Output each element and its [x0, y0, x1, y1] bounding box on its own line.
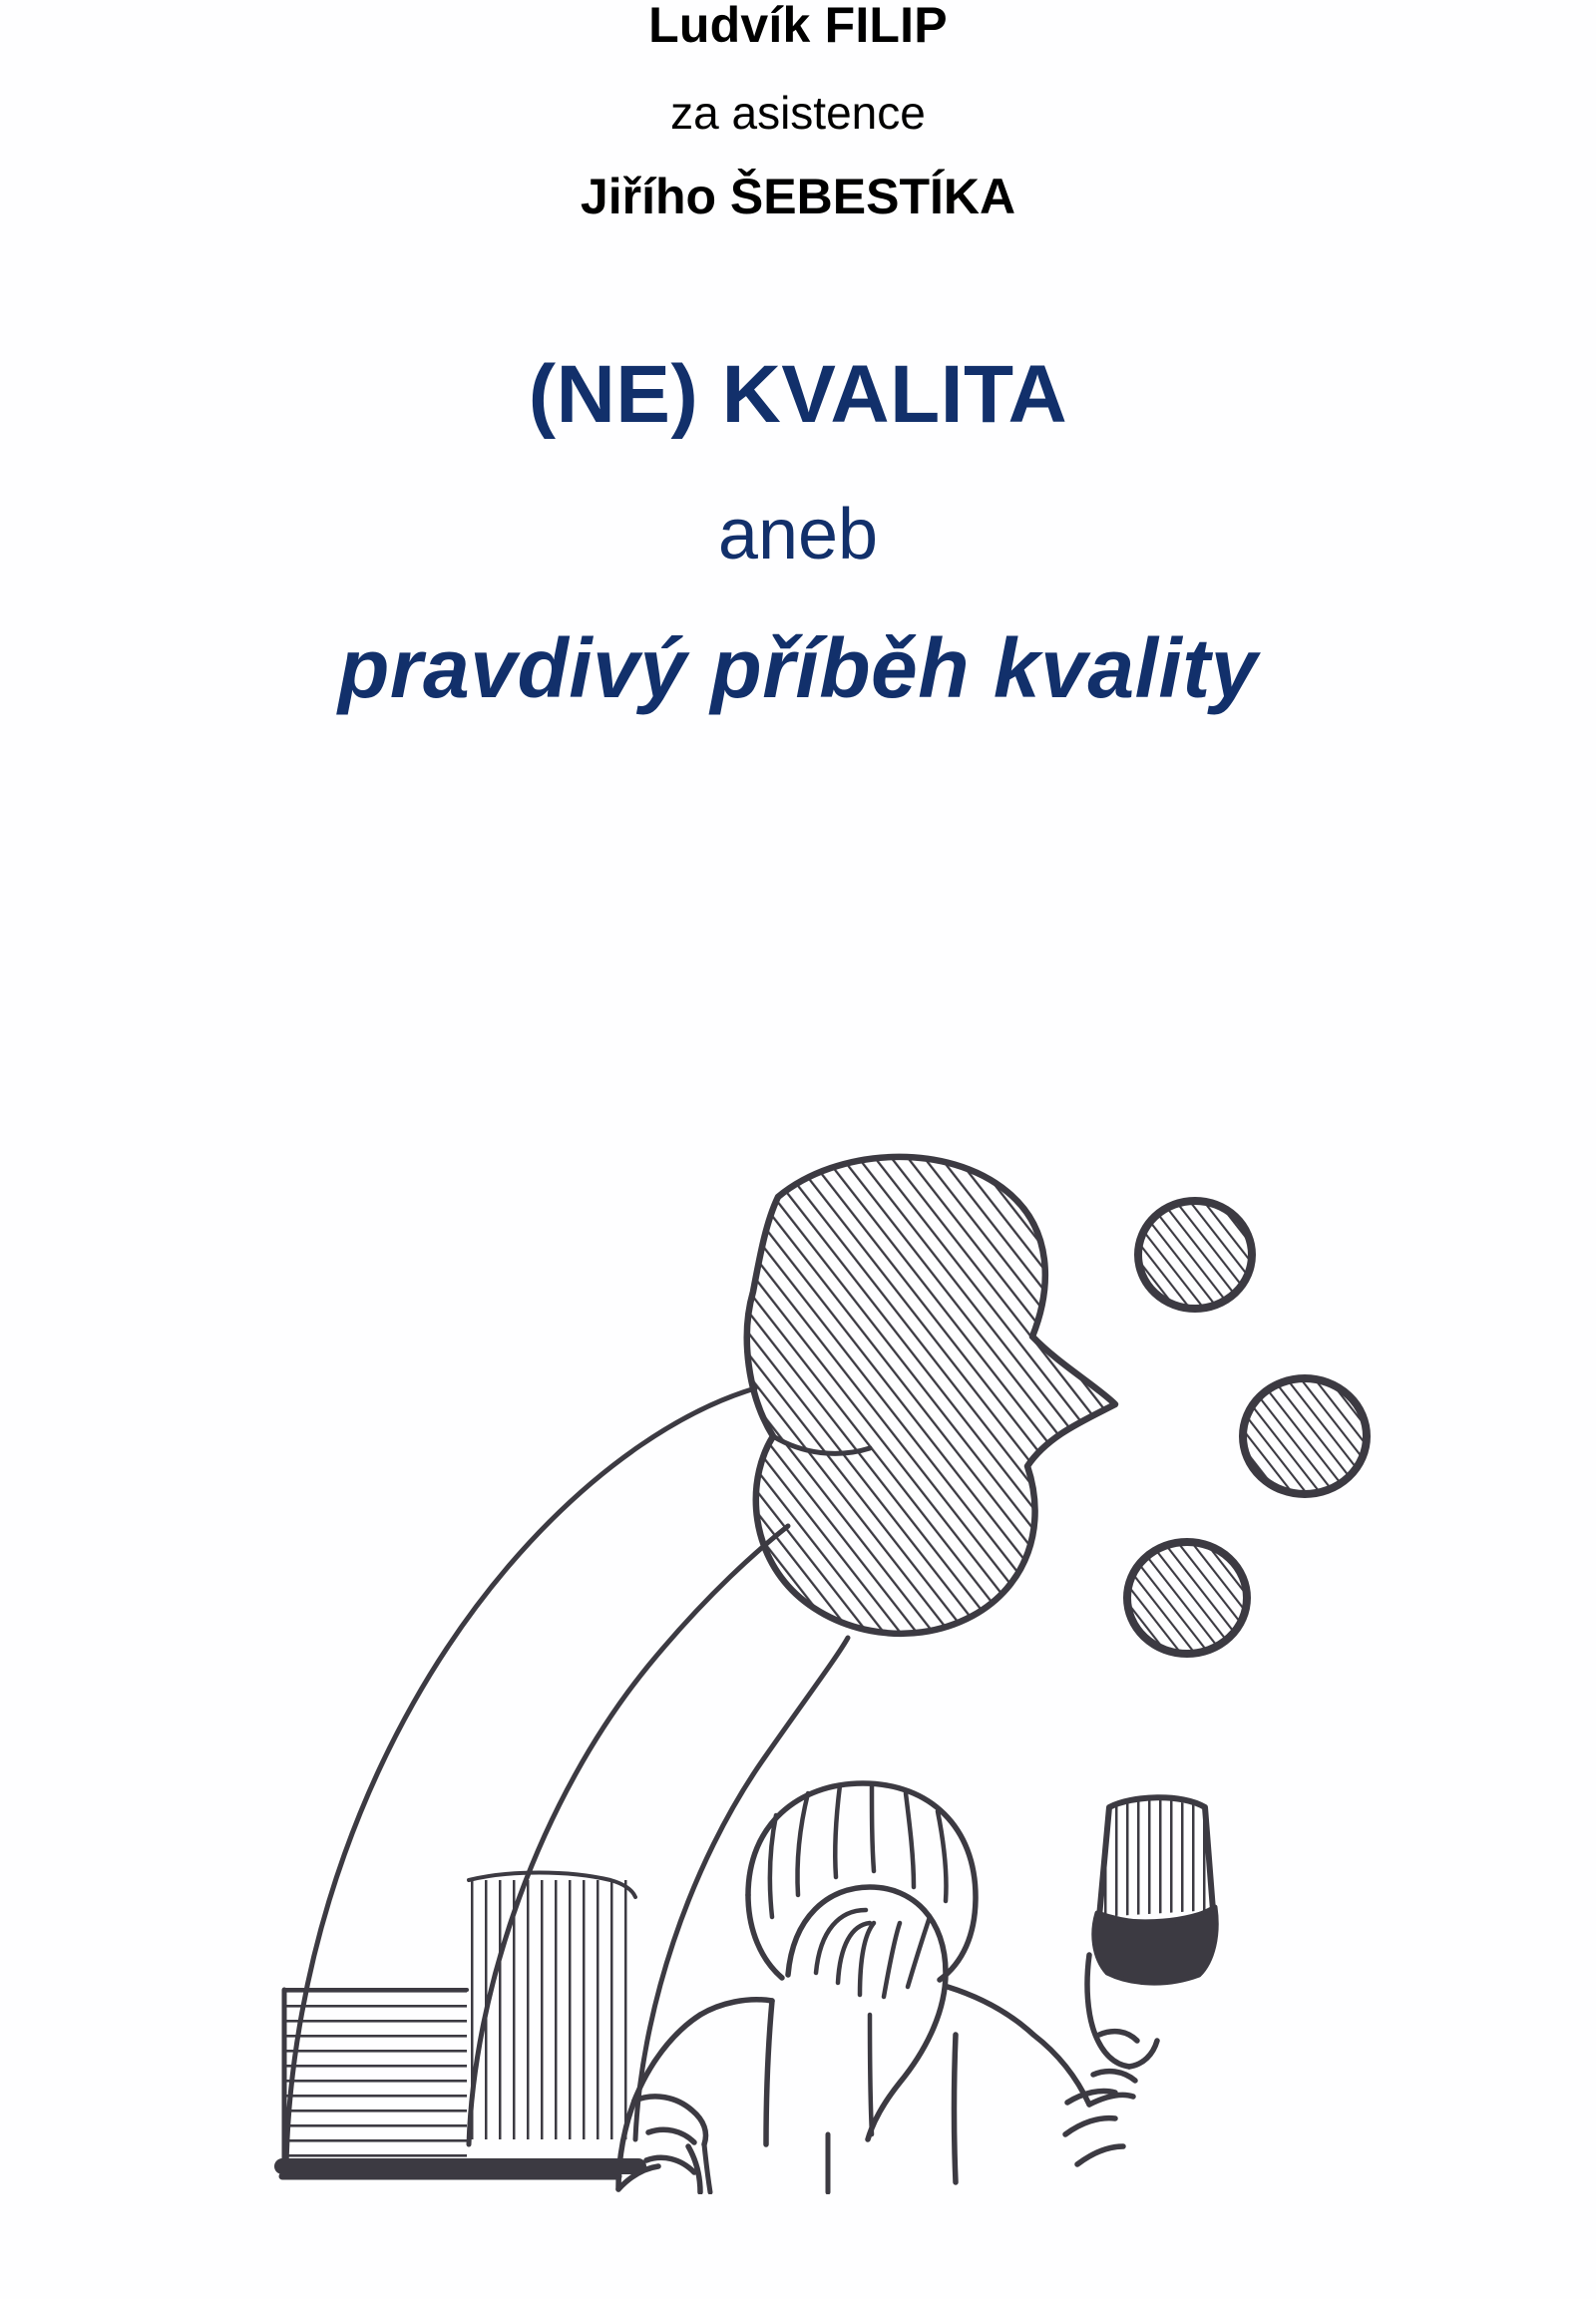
hatched-circle-2	[1243, 1378, 1367, 1494]
author-name: Ludvík FILIP	[0, 0, 1596, 50]
assistance-label: za asistence	[0, 90, 1596, 136]
person-figure	[618, 1783, 1157, 2192]
painted-band-horizontal	[284, 1990, 467, 2164]
cover-illustration	[150, 1137, 1446, 2194]
book-title-main: (NE) KVALITA	[0, 354, 1596, 436]
left-shoulder	[700, 2000, 772, 2015]
torso-right-edge	[955, 2035, 957, 2182]
torso-left-edge	[766, 2001, 772, 2144]
hatched-circle-3	[1127, 1542, 1247, 1654]
painted-band-vertical	[469, 1873, 636, 2142]
hatched-circle-1	[1138, 1201, 1252, 1309]
ponytail	[788, 1887, 946, 2139]
rainbow-inner-edge	[635, 1638, 848, 2139]
illustration-svg	[150, 1137, 1446, 2194]
assistant-name: Jiřího ŠEBESTÍKA	[0, 172, 1596, 221]
book-title-subtitle: pravdivý příběh kvality	[0, 626, 1596, 710]
paintbrush	[1092, 1790, 1217, 1983]
right-shoulder	[948, 1987, 1033, 2035]
brush-ferrule	[1094, 1907, 1216, 1983]
hair-strands	[770, 1785, 947, 1917]
right-hand	[1065, 1955, 1157, 2164]
hatched-cloud-shape	[708, 1137, 1167, 1656]
book-title-conjunction: aneb	[0, 499, 1596, 571]
